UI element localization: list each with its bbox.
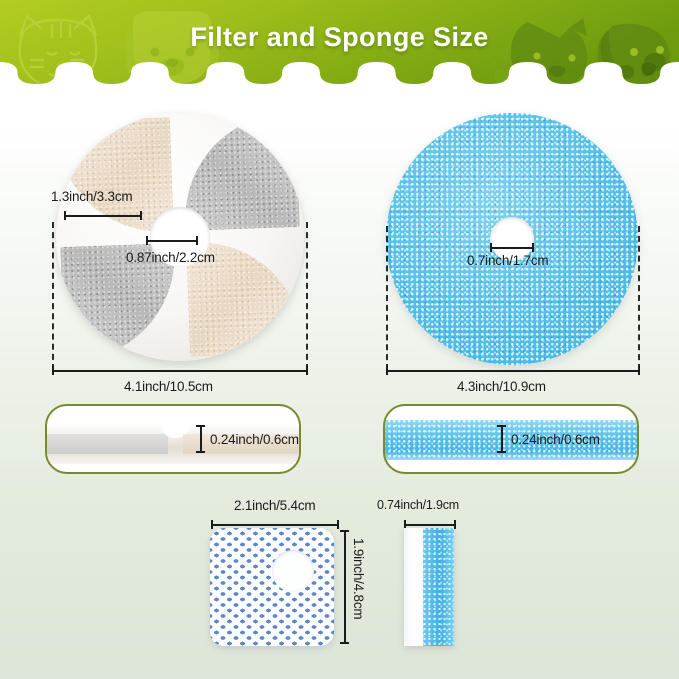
round-blue-foam-sponge [386, 113, 638, 365]
filter-thickness-label: 0.24inch/0.6cm [210, 432, 299, 447]
sponge-diameter-label: 4.3inch/10.9cm [457, 379, 546, 394]
sponge-strip-edge-view [404, 528, 454, 646]
filter-hole-bar [146, 236, 198, 245]
sponge-guide-right [638, 226, 640, 370]
strip-white-layer [404, 528, 423, 646]
sponge-guide-left [386, 226, 388, 370]
filter-thickness-bar [196, 425, 205, 453]
page-title: Filter and Sponge Size [0, 22, 679, 53]
filter-diameter-bar [52, 366, 308, 375]
strip-width-label: 0.74inch/1.9cm [377, 498, 459, 512]
filter-edge-notch [162, 419, 189, 438]
sponge-hole-label: 0.7inch/1.7cm [467, 253, 548, 268]
infographic-stage: Filter and Sponge Size 1.3inch/3.3cm 0.8… [0, 0, 679, 679]
square-pad-height-label: 1.9inch/4.8cm [351, 538, 366, 619]
strip-blue-layer [423, 528, 454, 646]
filter-pad-width-label: 1.3inch/3.3cm [51, 189, 132, 204]
sponge-hole-bar [490, 243, 534, 252]
leaf-sprig-icon [509, 66, 529, 92]
filter-hole-label: 0.87inch/2.2cm [126, 250, 215, 265]
square-pad-hole [272, 550, 314, 592]
filter-guide-right [306, 222, 308, 370]
square-filter-pad [210, 528, 334, 646]
filter-pad-width-bar [64, 211, 142, 220]
square-pad-height-bar [340, 530, 349, 644]
sponge-diameter-bar [386, 366, 640, 375]
sponge-thickness-label: 0.24inch/0.6cm [511, 432, 600, 447]
header-banner: Filter and Sponge Size [0, 0, 679, 92]
filter-diameter-label: 4.1inch/10.5cm [124, 379, 213, 394]
sponge-thickness-bar [497, 425, 506, 453]
square-pad-width-label: 2.1inch/5.4cm [234, 498, 315, 513]
filter-guide-left [52, 222, 54, 370]
